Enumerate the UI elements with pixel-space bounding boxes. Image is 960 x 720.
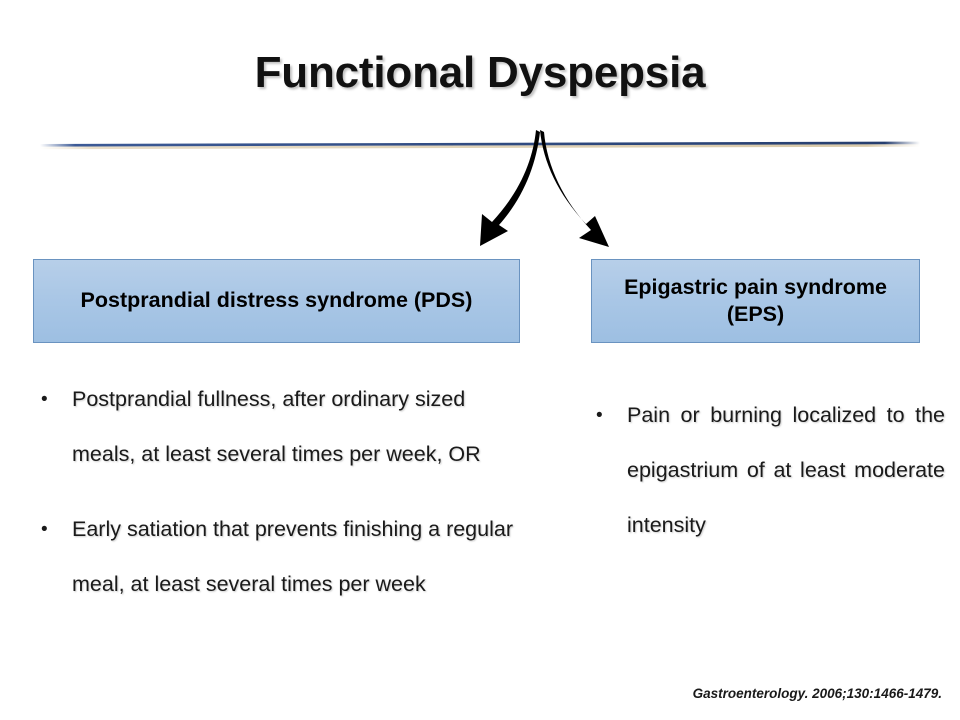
page-title: Functional Dyspepsia: [0, 48, 960, 98]
bullet-text: Early satiation that prevents finishing …: [72, 502, 530, 612]
curved-arrow-down-left-icon: [480, 130, 540, 246]
slide-canvas: Functional Dyspepsia: [0, 0, 960, 720]
source-citation: Gastroenterology. 2006;130:1466-1479.: [693, 686, 942, 701]
bullet-column-pds: • Postprandial fullness, after ordinary …: [30, 372, 530, 612]
header-box-pds: Postprandial distress syndrome (PDS): [33, 259, 520, 343]
branching-arrows: [430, 130, 640, 260]
list-item: • Early satiation that prevents finishin…: [30, 502, 530, 612]
bullet-point-icon: •: [585, 388, 627, 443]
bullet-column-eps: • Pain or burning localized to the epiga…: [585, 388, 945, 553]
bullet-point-icon: •: [30, 372, 72, 427]
list-item: • Postprandial fullness, after ordinary …: [30, 372, 530, 482]
list-item: • Pain or burning localized to the epiga…: [585, 388, 945, 553]
header-box-eps: Epigastric pain syndrome (EPS): [591, 259, 920, 343]
curved-arrow-down-right-icon: [540, 130, 609, 247]
bullet-point-icon: •: [30, 502, 72, 557]
bullet-text: Pain or burning localized to the epigast…: [627, 388, 945, 553]
bullet-text: Postprandial fullness, after ordinary si…: [72, 372, 530, 482]
